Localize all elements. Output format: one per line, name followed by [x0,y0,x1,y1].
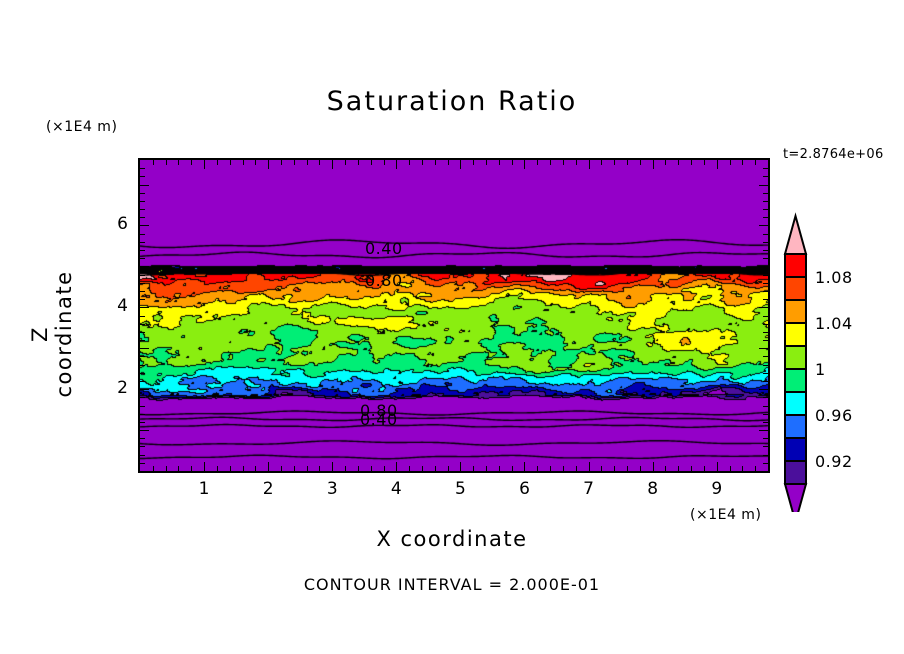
x-axis-tick [255,466,256,471]
z-axis-tick [140,242,145,243]
x-axis-tick [473,466,474,471]
x-axis-title: X coordinate [0,527,904,551]
x-axis-tick [294,466,295,471]
x-axis-tick [243,466,244,471]
x-axis-tick [601,466,602,471]
x-axis-tick-top [178,160,179,165]
z-tick-label: 2 [98,378,128,398]
colorbar-band [785,300,806,323]
z-axis-tick-right [759,266,768,267]
z-axis-tick [140,193,145,194]
z-axis-tick-right [763,340,768,341]
x-axis-tick [627,466,628,471]
x-axis-tick-top [486,160,487,165]
x-axis-tick-top [550,160,551,165]
x-axis-tick-top [640,160,641,165]
x-axis-tick [448,466,449,471]
x-axis-tick [730,466,731,471]
z-axis-tick [140,422,145,423]
x-tick-label: 1 [184,479,224,499]
colorbar-band [785,346,806,369]
x-axis-tick [614,466,615,471]
z-axis-tick-right [759,185,768,186]
x-axis-tick [717,462,718,471]
contour-value-label: 0.40 [365,239,403,258]
x-axis-tick-top [768,160,769,165]
horizontal-unit-label: (×1E4 m) [690,507,761,523]
x-axis-tick [371,466,372,471]
x-axis-tick-top [704,160,705,165]
x-axis-tick [524,462,525,471]
x-axis-tick [512,466,513,471]
x-axis-tick [332,462,333,471]
x-axis-tick-top [653,160,654,169]
x-axis-tick-top [499,160,500,165]
x-axis-tick-top [473,160,474,165]
x-axis-tick-top [589,160,590,169]
z-axis-tick-right [763,234,768,235]
x-axis-tick [319,466,320,471]
z-axis-tick [140,283,145,284]
colorbar: 1.081.0410.960.92 [779,212,899,512]
z-axis-tick-right [763,455,768,456]
z-axis-tick-right [763,209,768,210]
x-axis-tick [537,466,538,471]
z-axis-tick [140,225,149,226]
z-axis-tick [140,397,145,398]
contour-plot-panel [138,158,770,473]
contour-interval-caption: CONTOUR INTERVAL = 2.000E-01 [0,575,904,594]
x-tick-label: 3 [312,479,352,499]
z-axis-tick [140,307,149,308]
colorbar-band [785,323,806,346]
z-axis-tick [140,438,145,439]
x-axis-tick-top [345,160,346,165]
z-axis-tick [140,430,149,431]
x-axis-tick-top [524,160,525,169]
z-axis-tick [140,332,145,333]
x-axis-tick-top [358,160,359,165]
x-axis-tick-top [384,160,385,165]
x-axis-tick [550,466,551,471]
z-axis-tick [140,463,145,464]
z-axis-tick [140,185,149,186]
z-axis-tick [140,406,145,407]
z-axis-tick-right [763,422,768,423]
x-axis-tick [384,466,385,471]
x-axis-tick-top [268,160,269,169]
z-axis-tick [140,291,145,292]
z-axis-tick-right [759,348,768,349]
x-tick-label: 4 [376,479,416,499]
x-tick-label: 6 [504,479,544,499]
x-axis-tick [499,466,500,471]
colorbar-top-arrow [785,216,806,254]
z-axis-tick-right [763,217,768,218]
x-axis-tick-top [614,160,615,165]
x-axis-tick [178,466,179,471]
z-axis-tick-right [763,258,768,259]
z-tick-label: 6 [98,214,128,234]
x-axis-tick [166,466,167,471]
x-axis-tick [589,462,590,471]
z-axis-tick-right [763,324,768,325]
z-axis-tick [140,365,145,366]
x-axis-tick [307,466,308,471]
x-axis-tick-top [576,160,577,165]
x-axis-tick-top [255,160,256,165]
z-axis-tick-right [763,406,768,407]
z-axis-tick [140,209,145,210]
colorbar-tick-label: 1.08 [815,268,853,287]
page-title: Saturation Ratio [0,86,904,117]
colorbar-band [785,392,806,415]
z-axis-tick-right [763,365,768,366]
x-axis-tick-top [217,160,218,165]
x-axis-tick [460,462,461,471]
x-tick-label: 8 [633,479,673,499]
z-axis-tick [140,414,145,415]
x-axis-tick-top [627,160,628,165]
vertical-unit-label: (×1E4 m) [46,119,117,135]
contour-field-canvas [140,160,768,471]
x-axis-tick [204,462,205,471]
z-axis-tick [140,455,145,456]
x-tick-label: 7 [569,479,609,499]
z-axis-tick [140,299,145,300]
z-axis-tick-right [763,291,768,292]
x-axis-tick [191,466,192,471]
z-axis-tick-right [763,438,768,439]
x-axis-tick-top [537,160,538,165]
x-tick-label: 9 [697,479,737,499]
colorbar-band [785,277,806,300]
z-axis-tick-right [763,283,768,284]
colorbar-tick-label: 0.96 [815,406,853,425]
z-axis-tick-right [763,193,768,194]
z-axis-tick [140,381,145,382]
x-axis-tick-top [191,160,192,165]
x-axis-tick [345,466,346,471]
colorbar-bottom-arrow [785,484,806,512]
x-axis-tick-top [435,160,436,165]
x-tick-label: 2 [248,479,288,499]
x-axis-tick-top [717,160,718,169]
x-axis-tick [486,466,487,471]
x-axis-tick-top [665,160,666,165]
x-axis-tick [691,466,692,471]
x-axis-tick [665,466,666,471]
z-axis-tick [140,258,145,259]
x-axis-tick [678,466,679,471]
x-axis-tick-top [755,160,756,165]
contour-value-label: 0.80 [365,271,403,290]
x-axis-tick [704,466,705,471]
z-axis-tick [140,217,145,218]
z-axis-tick [140,373,145,374]
x-axis-tick [153,466,154,471]
colorbar-band [785,369,806,392]
x-axis-tick [576,466,577,471]
z-axis-tick [140,176,145,177]
z-axis-tick-right [763,397,768,398]
colorbar-band [785,415,806,438]
time-stamp-label: t=2.8764e+06 [783,147,884,162]
z-axis-tick-right [759,307,768,308]
x-axis-tick-top [409,160,410,165]
x-axis-tick-top [730,160,731,165]
x-axis-tick-top [307,160,308,165]
x-axis-tick-top [166,160,167,165]
z-axis-tick-right [759,225,768,226]
z-axis-tick [140,201,145,202]
x-axis-tick-top [691,160,692,165]
z-axis-tick [140,348,149,349]
z-axis-tick [140,168,145,169]
colorbar-tick-label: 1 [815,360,826,379]
x-axis-tick-top [319,160,320,165]
x-axis-tick-top [294,160,295,165]
x-axis-tick [396,462,397,471]
contour-value-label: 0.40 [360,410,398,429]
x-axis-tick [653,462,654,471]
z-axis-tick [140,250,145,251]
z-axis-tick [140,266,149,267]
z-axis-tick-right [763,316,768,317]
z-axis-tick [140,446,145,447]
colorbar-band [785,461,806,484]
z-axis-tick-right [759,389,768,390]
x-axis-tick-top [448,160,449,165]
x-axis-tick-top [563,160,564,165]
z-axis-tick-right [763,414,768,415]
x-axis-tick-top [243,160,244,165]
z-axis-tick [140,356,145,357]
x-axis-tick-top [230,160,231,165]
colorbar-tick-label: 0.92 [815,452,853,471]
x-axis-tick [268,462,269,471]
z-axis-tick-right [763,381,768,382]
z-axis-tick [140,234,145,235]
x-axis-tick-top [742,160,743,165]
x-axis-tick-top [332,160,333,169]
x-axis-tick [640,466,641,471]
x-axis-tick-top [204,160,205,169]
z-axis-tick [140,275,145,276]
z-axis-tick-right [763,250,768,251]
x-axis-tick [768,466,769,471]
z-axis-tick-right [763,373,768,374]
z-axis-tick [140,324,145,325]
colorbar-band [785,438,806,461]
z-axis-tick [140,340,145,341]
x-axis-tick [563,466,564,471]
z-tick-label: 4 [98,296,128,316]
x-axis-tick [217,466,218,471]
x-axis-tick-top [396,160,397,169]
x-axis-tick-top [281,160,282,165]
x-axis-tick-top [371,160,372,165]
x-tick-label: 5 [440,479,480,499]
x-axis-tick [422,466,423,471]
z-axis-tick-right [763,299,768,300]
x-axis-tick-top [678,160,679,165]
z-axis-tick-right [763,168,768,169]
x-axis-tick [409,466,410,471]
x-axis-tick [755,466,756,471]
z-axis-tick [140,316,145,317]
z-axis-tick-right [763,242,768,243]
z-axis-tick-right [763,275,768,276]
z-axis-tick-right [759,430,768,431]
z-axis-tick-right [763,463,768,464]
z-axis-tick-right [763,201,768,202]
z-axis-tick-right [763,356,768,357]
z-axis-tick-right [763,332,768,333]
x-axis-tick-top [460,160,461,169]
z-axis-tick [140,389,149,390]
x-axis-tick [358,466,359,471]
x-axis-tick [230,466,231,471]
x-axis-tick [742,466,743,471]
colorbar-band [785,254,806,277]
x-axis-tick [281,466,282,471]
z-axis-tick-right [763,446,768,447]
x-axis-tick-top [153,160,154,165]
x-axis-tick-top [601,160,602,165]
x-axis-tick-top [512,160,513,165]
z-axis-tick-right [763,176,768,177]
colorbar-tick-label: 1.04 [815,314,853,333]
x-axis-tick-top [422,160,423,165]
x-axis-tick [435,466,436,471]
z-axis-title: Z coordinate [28,264,76,404]
